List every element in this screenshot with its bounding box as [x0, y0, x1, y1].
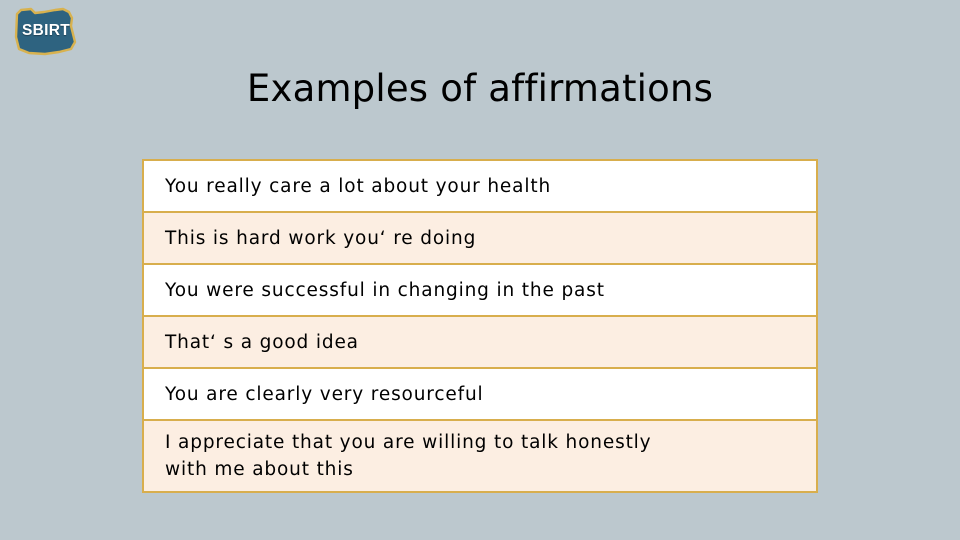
table-row: You really care a lot about your health: [143, 160, 817, 212]
slide: SBIRT Examples of affirmations You reall…: [0, 0, 960, 540]
oregon-state-shape-icon: [11, 4, 79, 58]
table-row: I appreciate that you are willing to tal…: [143, 420, 817, 492]
sbirt-oregon-logo: SBIRT: [11, 4, 79, 58]
affirmation-cell: You are clearly very resourceful: [143, 368, 817, 420]
affirmation-text-line1: I appreciate that you are willing to tal…: [165, 429, 816, 456]
affirmation-cell: This is hard work you‘ re doing: [143, 212, 817, 264]
affirmation-text-line2: with me about this: [165, 456, 816, 483]
table-row: You were successful in changing in the p…: [143, 264, 817, 316]
affirmation-text: You are clearly very resourceful: [165, 381, 816, 408]
affirmation-cell: You were successful in changing in the p…: [143, 264, 817, 316]
affirmation-cell: I appreciate that you are willing to tal…: [143, 420, 817, 492]
affirmation-cell: That‘ s a good idea: [143, 316, 817, 368]
affirmations-table: You really care a lot about your health …: [142, 159, 818, 493]
affirmation-text: You really care a lot about your health: [165, 173, 816, 200]
table-row: That‘ s a good idea: [143, 316, 817, 368]
affirmation-text: That‘ s a good idea: [165, 329, 816, 356]
table-row: This is hard work you‘ re doing: [143, 212, 817, 264]
affirmation-cell: You really care a lot about your health: [143, 160, 817, 212]
affirmation-text: This is hard work you‘ re doing: [165, 225, 816, 252]
page-title: Examples of affirmations: [0, 66, 960, 112]
affirmation-text: You were successful in changing in the p…: [165, 277, 816, 304]
table-row: You are clearly very resourceful: [143, 368, 817, 420]
